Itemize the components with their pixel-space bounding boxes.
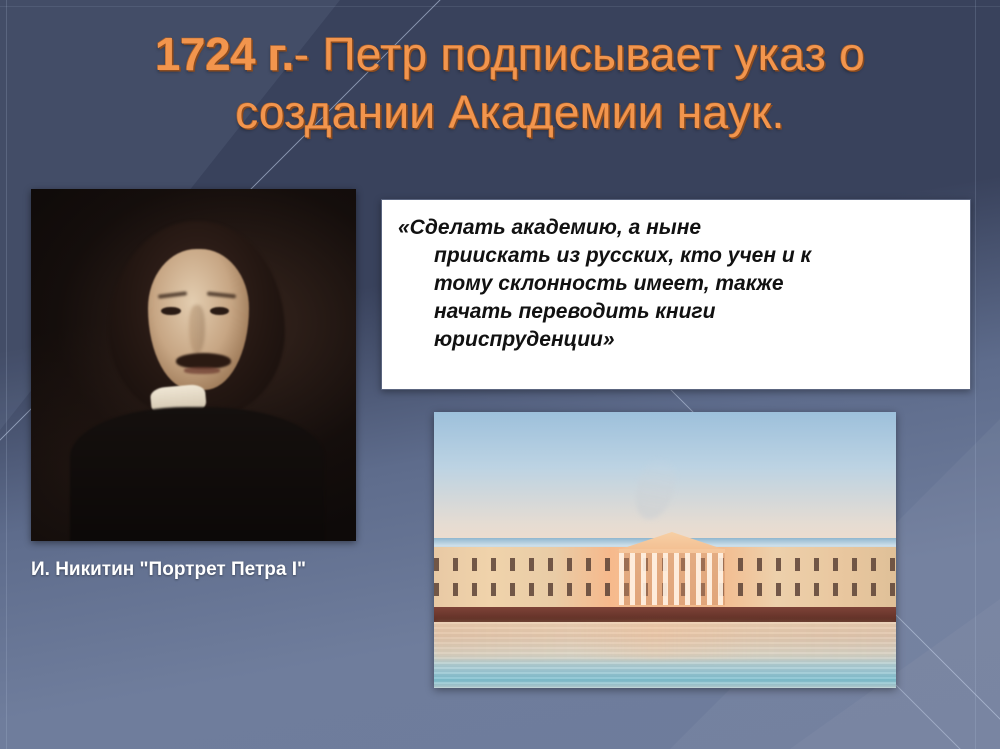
- academy-of-sciences-building-image: [434, 412, 896, 688]
- quote-box: «Сделать академию, а ныне приискать из р…: [381, 199, 971, 390]
- building-columns: [619, 553, 725, 605]
- background-vertical-line-left: [6, 0, 7, 749]
- title-year: 1724 г.: [155, 28, 294, 80]
- quote-text: «Сделать академию, а ныне приискать из р…: [382, 200, 970, 364]
- quote-line: «Сделать академию, а ныне: [398, 214, 954, 242]
- building-embankment: [434, 607, 896, 622]
- building-water-reflection: [434, 622, 896, 661]
- title-text: - Петр подписывает указ о создании Акаде…: [235, 28, 865, 138]
- quote-line: тому склонность имеет, также: [398, 270, 954, 298]
- portrait-canvas: [31, 189, 356, 541]
- slide-title: 1724 г.- Петр подписывает указ о создани…: [60, 26, 960, 142]
- portrait-eye-left: [161, 307, 181, 315]
- quote-line: начать переводить книги: [398, 298, 954, 326]
- portrait-caption: И. Никитин "Портрет Петра I": [31, 557, 351, 583]
- quote-line: юриспруденции»: [398, 326, 954, 354]
- quote-line: приискать из русских, кто учен и к: [398, 242, 954, 270]
- presentation-slide: 1724 г.- Петр подписывает указ о создани…: [0, 0, 1000, 749]
- portrait-mouth: [184, 367, 220, 374]
- portrait-garment: [70, 407, 324, 541]
- portrait-nose: [189, 305, 205, 354]
- background-horizontal-line-top: [0, 6, 1000, 7]
- peter-the-first-portrait-image: [31, 189, 356, 541]
